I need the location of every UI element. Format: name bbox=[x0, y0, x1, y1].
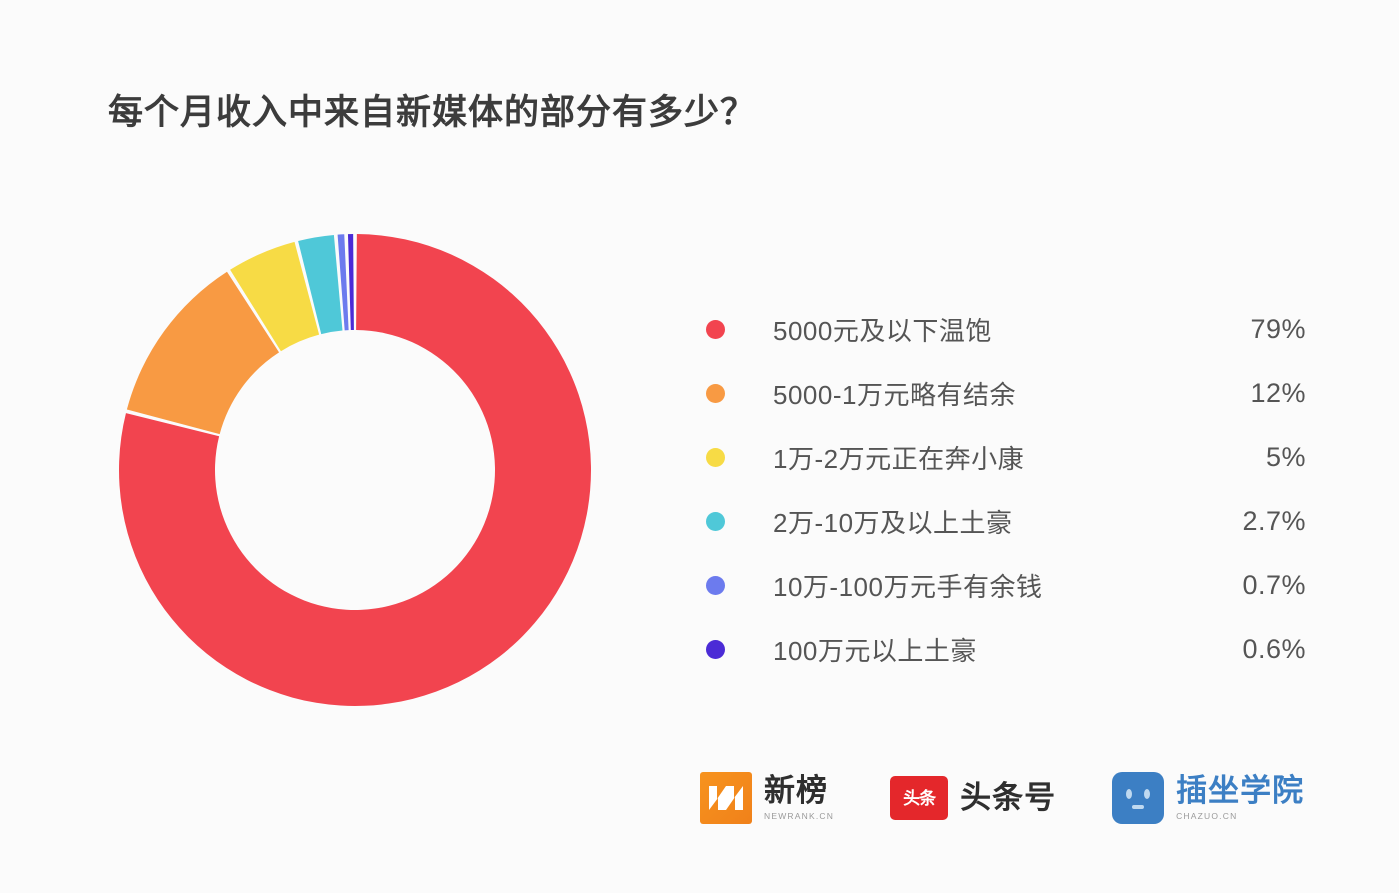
legend-item[interactable]: 5000-1万元略有结余12% bbox=[706, 361, 1306, 425]
partner-logo-text: 插坐学院CHAZUO.CN bbox=[1176, 775, 1304, 821]
legend-color-swatch bbox=[706, 384, 725, 403]
partner-logo: 插坐学院CHAZUO.CN bbox=[1112, 772, 1304, 824]
legend-item-label: 100万元以上土豪 bbox=[773, 631, 1188, 668]
chart-legend: 5000元及以下温饱79%5000-1万元略有结余12%1万-2万元正在奔小康5… bbox=[706, 297, 1306, 681]
legend-color-swatch bbox=[706, 640, 725, 659]
legend-item-percentage: 0.7% bbox=[1188, 570, 1306, 601]
partner-logo-name: 插坐学院 bbox=[1176, 775, 1304, 808]
legend-item-label: 2万-10万及以上土豪 bbox=[773, 503, 1188, 540]
legend-color-swatch bbox=[706, 448, 725, 467]
legend-item[interactable]: 5000元及以下温饱79% bbox=[706, 297, 1306, 361]
legend-item-label: 10万-100万元手有余钱 bbox=[773, 567, 1188, 604]
legend-item-percentage: 79% bbox=[1188, 314, 1306, 345]
partner-logo-text: 头条号 bbox=[960, 782, 1056, 815]
legend-item-percentage: 2.7% bbox=[1188, 506, 1306, 537]
partner-logo-name: 头条号 bbox=[960, 782, 1056, 815]
donut-chart bbox=[118, 233, 592, 707]
partner-logo-url: NEWRANK.CN bbox=[764, 811, 834, 821]
legend-item-percentage: 0.6% bbox=[1188, 634, 1306, 665]
legend-item-percentage: 12% bbox=[1188, 378, 1306, 409]
partner-logo-url: CHAZUO.CN bbox=[1176, 811, 1304, 821]
legend-item-percentage: 5% bbox=[1188, 442, 1306, 473]
toutiaohao-logo-icon: 头条 bbox=[890, 776, 948, 820]
chazuo-face-glyph bbox=[1112, 772, 1164, 824]
partner-logos: 新榜NEWRANK.CN头条头条号插坐学院CHAZUO.CN bbox=[700, 772, 1304, 824]
donut-chart-svg bbox=[118, 233, 592, 707]
newrank-n-glyph bbox=[700, 772, 752, 824]
legend-item[interactable]: 2万-10万及以上土豪2.7% bbox=[706, 489, 1306, 553]
donut-slice[interactable] bbox=[348, 234, 354, 330]
legend-item-label: 5000-1万元略有结余 bbox=[773, 375, 1188, 412]
page-title: 每个月收入中来自新媒体的部分有多少？ bbox=[108, 84, 756, 135]
partner-logo-text: 新榜NEWRANK.CN bbox=[764, 775, 834, 821]
legend-item[interactable]: 100万元以上土豪0.6% bbox=[706, 617, 1306, 681]
slide-canvas: 每个月收入中来自新媒体的部分有多少？ 5000元及以下温饱79%5000-1万元… bbox=[0, 0, 1399, 893]
toutiao-mark-text: 头条 bbox=[903, 790, 935, 807]
partner-logo-name: 新榜 bbox=[764, 775, 834, 808]
partner-logo: 头条头条号 bbox=[890, 776, 1056, 820]
legend-color-swatch bbox=[706, 512, 725, 531]
legend-item[interactable]: 10万-100万元手有余钱0.7% bbox=[706, 553, 1306, 617]
legend-color-swatch bbox=[706, 320, 725, 339]
legend-color-swatch bbox=[706, 576, 725, 595]
legend-item[interactable]: 1万-2万元正在奔小康5% bbox=[706, 425, 1306, 489]
partner-logo: 新榜NEWRANK.CN bbox=[700, 772, 834, 824]
donut-slice-group bbox=[119, 234, 591, 706]
chazuo-logo-icon bbox=[1112, 772, 1164, 824]
legend-item-label: 1万-2万元正在奔小康 bbox=[773, 439, 1188, 476]
legend-item-label: 5000元及以下温饱 bbox=[773, 311, 1188, 348]
newrank-logo-icon bbox=[700, 772, 752, 824]
